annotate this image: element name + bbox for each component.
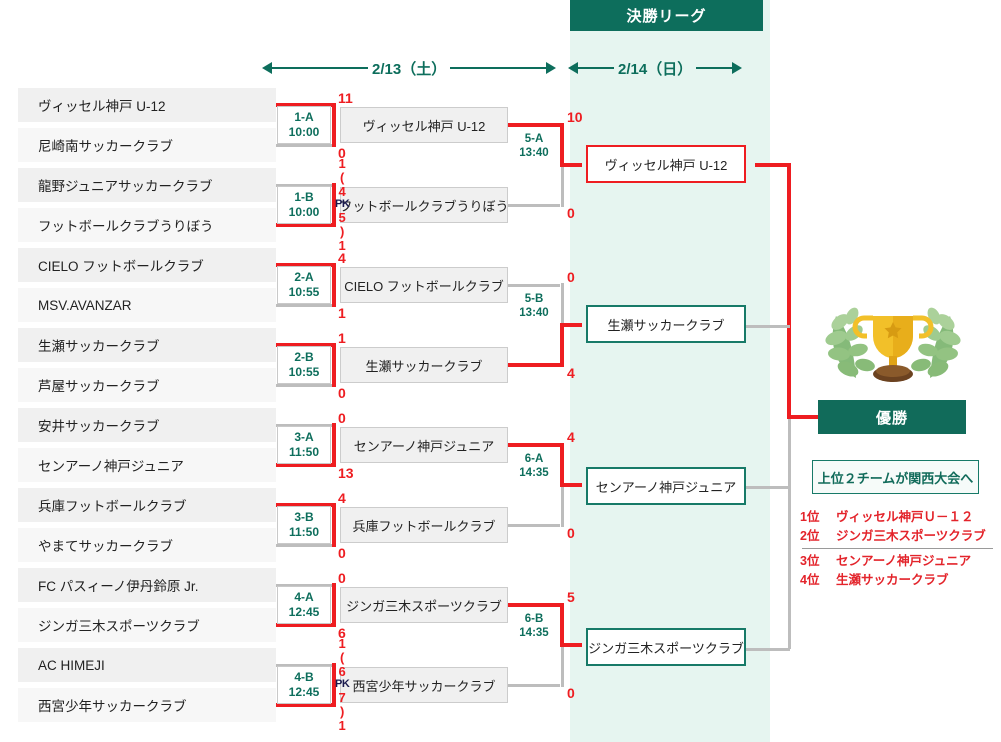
match-time: 14:35 bbox=[519, 626, 548, 640]
match-time: 10:00 bbox=[289, 125, 320, 140]
match-code-box: 1-B10:00 bbox=[277, 186, 331, 224]
match-code: 3-A bbox=[294, 430, 313, 445]
date-header-day2: 2/14（日） bbox=[568, 56, 742, 80]
r1-score-top: 1 bbox=[338, 331, 346, 345]
team-row: やまてサッカークラブ bbox=[18, 528, 276, 562]
pk-shootout-bottom: 5 bbox=[339, 211, 346, 225]
final-league-team-box: ヴィッセル神戸 U-12 bbox=[586, 145, 746, 183]
champion-title: 優勝 bbox=[818, 400, 966, 434]
final-connector-vertical bbox=[787, 163, 791, 419]
sf-arm-top bbox=[508, 123, 560, 127]
match-code: 3-B bbox=[294, 510, 313, 525]
round2-team-box: 生瀬サッカークラブ bbox=[340, 347, 508, 383]
r1-join bbox=[332, 263, 336, 307]
arrow-shaft bbox=[272, 67, 368, 69]
sf-score-top: 0 bbox=[567, 270, 575, 284]
league-spur-3 bbox=[746, 486, 790, 489]
final-connector-champion bbox=[787, 415, 821, 419]
team-row: 芦屋サッカークラブ bbox=[18, 368, 276, 402]
round2-team-box: センアーノ神戸ジュニア bbox=[340, 427, 508, 463]
match-time: 11:50 bbox=[289, 525, 319, 540]
ranking-row: 3位センアーノ神戸ジュニア bbox=[800, 552, 995, 571]
semifinal-code-box: 5-B13:40 bbox=[510, 289, 558, 323]
r1-join bbox=[332, 343, 336, 387]
match-time: 10:55 bbox=[289, 285, 320, 300]
pk-shootout-top: 4 bbox=[339, 185, 346, 199]
team-row: 兵庫フットボールクラブ bbox=[18, 488, 276, 522]
pk-paren-close: ) bbox=[340, 225, 344, 239]
r1-score-bottom: 0 bbox=[338, 546, 346, 560]
semifinal-code-box: 5-A13:40 bbox=[510, 129, 558, 163]
team-row: 安井サッカークラブ bbox=[18, 408, 276, 442]
team-row: ヴィッセル神戸 U-12 bbox=[18, 88, 276, 122]
arrow-right-icon bbox=[732, 62, 742, 74]
round2-team-box: 西宮少年サッカークラブ bbox=[340, 667, 508, 703]
r1-join bbox=[332, 503, 336, 547]
final-connector-top bbox=[755, 163, 791, 167]
team-row: 西宮少年サッカークラブ bbox=[18, 688, 276, 722]
match-code: 1-A bbox=[294, 110, 313, 125]
final-league-team-box: ジンガ三木スポーツクラブ bbox=[586, 628, 746, 666]
sf-join-win bbox=[560, 323, 564, 367]
pk-regular-bottom: 1 bbox=[339, 719, 346, 733]
sf-join-lose bbox=[561, 165, 564, 207]
match-time: 14:35 bbox=[519, 466, 548, 480]
team-row: 龍野ジュニアサッカークラブ bbox=[18, 168, 276, 202]
match-code-box: 4-A12:45 bbox=[277, 586, 331, 624]
r1-join bbox=[332, 103, 336, 147]
tournament-bracket: 決勝リーグ 2/13（土） 2/14（日） ヴィッセル神戸 U-12尼崎南サッカ… bbox=[0, 0, 1001, 742]
sf-to-league bbox=[560, 643, 582, 647]
team-row: AC HIMEJI bbox=[18, 648, 276, 682]
round2-team-box: ジンガ三木スポーツクラブ bbox=[340, 587, 508, 623]
sf-join-lose bbox=[561, 645, 564, 687]
ranking-row: 2位ジンガ三木スポーツクラブ bbox=[800, 527, 995, 546]
sf-join-win bbox=[560, 603, 564, 647]
r1-score-bottom: 0 bbox=[338, 386, 346, 400]
match-code: 4-B bbox=[294, 670, 313, 685]
r1-join bbox=[332, 423, 336, 467]
arrow-right-icon bbox=[546, 62, 556, 74]
date-label-day2: 2/14（日） bbox=[614, 58, 696, 79]
arrow-left-icon bbox=[262, 62, 272, 74]
date-label-day1: 2/13（土） bbox=[368, 58, 450, 79]
final-league-team-box: 生瀬サッカークラブ bbox=[586, 305, 746, 343]
team-row: FC パスィーノ伊丹鈴原 Jr. bbox=[18, 568, 276, 602]
date-header-day1: 2/13（土） bbox=[262, 56, 556, 80]
ranking-row: 4位生瀬サッカークラブ bbox=[800, 571, 995, 590]
league-spur-2 bbox=[746, 325, 790, 328]
r1-score-top: 4 bbox=[338, 251, 346, 265]
sf-join-win bbox=[560, 123, 564, 167]
ranking-team: 生瀬サッカークラブ bbox=[836, 571, 949, 590]
pk-regular-top: 1 bbox=[339, 157, 346, 171]
sf-score-bottom: 0 bbox=[567, 526, 575, 540]
match-time: 11:50 bbox=[289, 445, 319, 460]
arrow-shaft bbox=[578, 67, 614, 69]
match-code-box: 4-B12:45 bbox=[277, 666, 331, 704]
round2-team-box: ヴィッセル神戸 U-12 bbox=[340, 107, 508, 143]
match-code-box: 3-B11:50 bbox=[277, 506, 331, 544]
sf-arm-bottom bbox=[508, 363, 560, 367]
sf-score-bottom: 4 bbox=[567, 366, 575, 380]
ranking-team: センアーノ神戸ジュニア bbox=[836, 552, 971, 571]
arrow-left-icon bbox=[568, 62, 578, 74]
pk-regular-top: 1 bbox=[339, 637, 346, 651]
match-code: 2-B bbox=[294, 350, 313, 365]
match-code: 5-A bbox=[525, 132, 544, 146]
league-spur-4 bbox=[746, 648, 790, 651]
match-time: 12:45 bbox=[289, 605, 320, 620]
r1-join bbox=[332, 583, 336, 627]
sf-arm-bottom bbox=[508, 524, 560, 527]
sf-to-league bbox=[560, 163, 582, 167]
ranking-position: 3位 bbox=[800, 552, 828, 571]
pk-score-stack: 1(4PK5)1 bbox=[335, 157, 349, 253]
team-row: CIELO フットボールクラブ bbox=[18, 248, 276, 282]
sf-arm-top bbox=[508, 603, 560, 607]
r1-score-top: 0 bbox=[338, 571, 346, 585]
ranking-position: 1位 bbox=[800, 508, 828, 527]
pk-shootout-bottom: 7 bbox=[339, 691, 346, 705]
team-row: センアーノ神戸ジュニア bbox=[18, 448, 276, 482]
team-row: MSV.AVANZAR bbox=[18, 288, 276, 322]
pk-paren-open: ( bbox=[340, 171, 344, 185]
r1-score-top: 11 bbox=[338, 91, 353, 105]
match-code-box: 3-A11:50 bbox=[277, 426, 331, 464]
r1-score-top: 0 bbox=[338, 411, 346, 425]
match-code-box: 1-A10:00 bbox=[277, 106, 331, 144]
sf-to-league bbox=[560, 483, 582, 487]
team-row: フットボールクラブうりぼう bbox=[18, 208, 276, 242]
sf-join-lose bbox=[561, 283, 564, 325]
round2-team-box: フットボールクラブうりぼう bbox=[340, 187, 508, 223]
arrow-shaft bbox=[696, 67, 732, 69]
pk-paren-close: ) bbox=[340, 705, 344, 719]
ranking-row: 1位ヴィッセル神戸Ｕ－１２ bbox=[800, 508, 995, 527]
sf-score-top: 10 bbox=[567, 110, 583, 124]
pk-score-stack: 1(6PK7)1 bbox=[335, 637, 349, 733]
sf-to-league bbox=[560, 323, 582, 327]
pk-shootout-top: 6 bbox=[339, 665, 346, 679]
ranking-team: ジンガ三木スポーツクラブ bbox=[836, 527, 986, 546]
match-time: 12:45 bbox=[289, 685, 320, 700]
final-league-team-box: センアーノ神戸ジュニア bbox=[586, 467, 746, 505]
match-code-box: 2-B10:55 bbox=[277, 346, 331, 384]
sf-arm-top bbox=[508, 443, 560, 447]
sf-join-lose bbox=[561, 485, 564, 527]
league-spur-vertical bbox=[788, 419, 791, 649]
final-rankings: 1位ヴィッセル神戸Ｕ－１２2位ジンガ三木スポーツクラブ3位センアーノ神戸ジュニア… bbox=[800, 508, 995, 590]
match-code: 6-B bbox=[525, 612, 544, 626]
r1-score-top: 4 bbox=[338, 491, 346, 505]
ranking-position: 2位 bbox=[800, 527, 828, 546]
arrow-shaft bbox=[450, 67, 546, 69]
qualification-note: 上位２チームが関西大会へ bbox=[812, 460, 979, 494]
round2-team-box: CIELO フットボールクラブ bbox=[340, 267, 508, 303]
final-league-banner: 決勝リーグ bbox=[570, 0, 763, 31]
match-code: 1-B bbox=[294, 190, 313, 205]
sf-arm-top bbox=[508, 284, 560, 287]
semifinal-code-box: 6-A14:35 bbox=[510, 449, 558, 483]
trophy-laurel-icon bbox=[818, 292, 968, 392]
match-code: 6-A bbox=[525, 452, 544, 466]
ranking-position: 4位 bbox=[800, 571, 828, 590]
sf-score-bottom: 0 bbox=[567, 206, 575, 220]
sf-arm-bottom bbox=[508, 684, 560, 687]
match-time: 10:00 bbox=[289, 205, 320, 220]
team-row: 生瀬サッカークラブ bbox=[18, 328, 276, 362]
sf-score-top: 5 bbox=[567, 590, 575, 604]
match-time: 13:40 bbox=[519, 146, 548, 160]
match-code: 5-B bbox=[525, 292, 544, 306]
team-row: 尼崎南サッカークラブ bbox=[18, 128, 276, 162]
sf-score-top: 4 bbox=[567, 430, 575, 444]
match-time: 13:40 bbox=[519, 306, 548, 320]
sf-join-win bbox=[560, 443, 564, 487]
r1-score-bottom: 13 bbox=[338, 466, 354, 480]
sf-arm-bottom bbox=[508, 204, 560, 207]
match-code-box: 2-A10:55 bbox=[277, 266, 331, 304]
match-time: 10:55 bbox=[289, 365, 320, 380]
sf-score-bottom: 0 bbox=[567, 686, 575, 700]
ranking-team: ヴィッセル神戸Ｕ－１２ bbox=[836, 508, 974, 527]
rankings-divider bbox=[802, 548, 993, 549]
pk-paren-open: ( bbox=[340, 651, 344, 665]
r1-score-bottom: 1 bbox=[338, 306, 346, 320]
match-code: 4-A bbox=[294, 590, 313, 605]
round2-team-box: 兵庫フットボールクラブ bbox=[340, 507, 508, 543]
team-row: ジンガ三木スポーツクラブ bbox=[18, 608, 276, 642]
match-code: 2-A bbox=[294, 270, 313, 285]
semifinal-code-box: 6-B14:35 bbox=[510, 609, 558, 643]
